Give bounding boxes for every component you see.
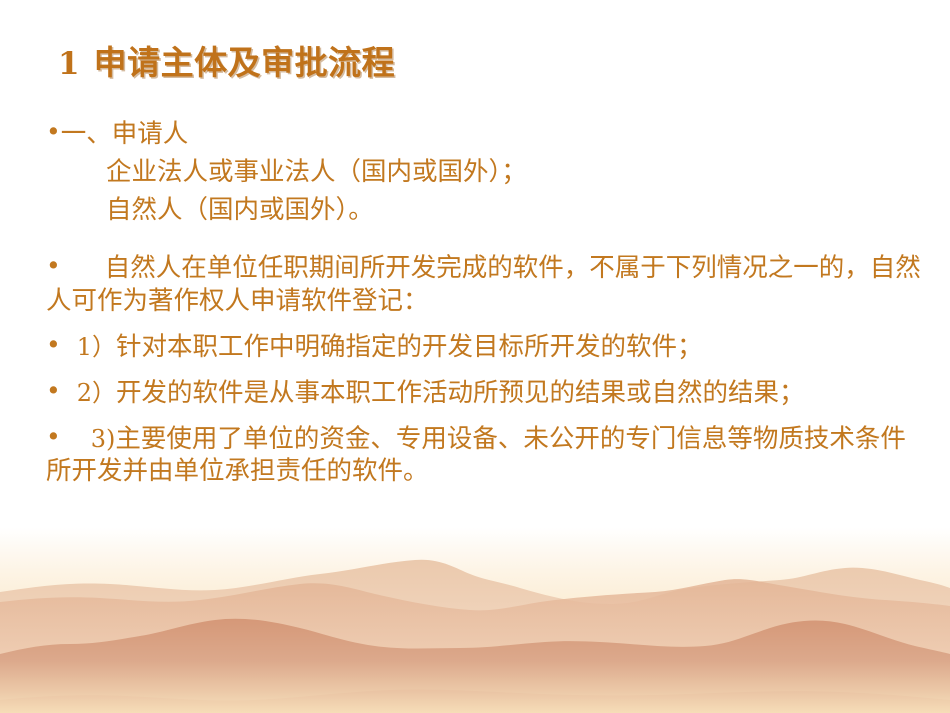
bullet-row: 一、申请人	[46, 118, 926, 150]
slide-title-text: 申请主体及审批流程	[94, 43, 396, 82]
mountain-range-illustration	[0, 548, 950, 713]
bullet-item-text: 自然人在单位任职期间所开发完成的软件，不属于下列情况之一的，自然人可作为著作权人…	[46, 253, 921, 315]
bullet-point-icon	[46, 424, 61, 449]
slide-body: 一、申请人 企业法人或事业法人（国内或国外）； 自然人（国内或国外）。 自然人在…	[46, 118, 926, 489]
bullet-item-number-label: 1）	[77, 333, 116, 361]
bullet-row: 2）开发的软件是从事本职工作活动所预见的结果或自然的结果；	[46, 377, 926, 409]
bullet-row: 1）针对本职工作中明确指定的开发目标所开发的软件；	[46, 331, 926, 363]
bullet-point-icon	[46, 332, 61, 357]
bullet-item-text: 主要使用了单位的资金、专用设备、未公开的专门信息等物质技术条件所开发并由单位承担…	[46, 424, 906, 486]
slide-title: 1申请主体及审批流程	[58, 36, 395, 84]
bullet-item: 2）开发的软件是从事本职工作活动所预见的结果或自然的结果；	[46, 377, 926, 409]
sub-line: 自然人（国内或国外）。	[46, 194, 926, 226]
bullet-item: 自然人在单位任职期间所开发完成的软件，不属于下列情况之一的，自然人可作为著作权人…	[46, 252, 926, 316]
bullet-item-text: 开发的软件是从事本职工作活动所预见的结果或自然的结果；	[116, 378, 805, 408]
bullet-item: 1）针对本职工作中明确指定的开发目标所开发的软件；	[46, 331, 926, 363]
bullet-row: 3)主要使用了单位的资金、专用设备、未公开的专门信息等物质技术条件所开发并由单位…	[46, 423, 926, 487]
bullet-item-text: 一、申请人	[61, 119, 189, 149]
sub-line: 企业法人或事业法人（国内或国外）；	[46, 156, 926, 188]
bullet-point-icon	[46, 119, 61, 144]
slide-title-number: 1	[58, 46, 80, 82]
bullet-point-icon	[46, 253, 61, 278]
slide-canvas: 1申请主体及审批流程 一、申请人 企业法人或事业法人（国内或国外）； 自然人（国…	[0, 0, 950, 713]
bullet-point-icon	[46, 378, 61, 403]
bullet-item-text: 针对本职工作中明确指定的开发目标所开发的软件；	[116, 332, 703, 362]
bullet-item-number-label: 2）	[77, 379, 116, 407]
bullet-item: 一、申请人 企业法人或事业法人（国内或国外）； 自然人（国内或国外）。	[46, 118, 926, 226]
bullet-item: 3)主要使用了单位的资金、专用设备、未公开的专门信息等物质技术条件所开发并由单位…	[46, 423, 926, 487]
bullet-row: 自然人在单位任职期间所开发完成的软件，不属于下列情况之一的，自然人可作为著作权人…	[46, 252, 926, 316]
bullet-item-number-label: 3)	[91, 425, 116, 453]
